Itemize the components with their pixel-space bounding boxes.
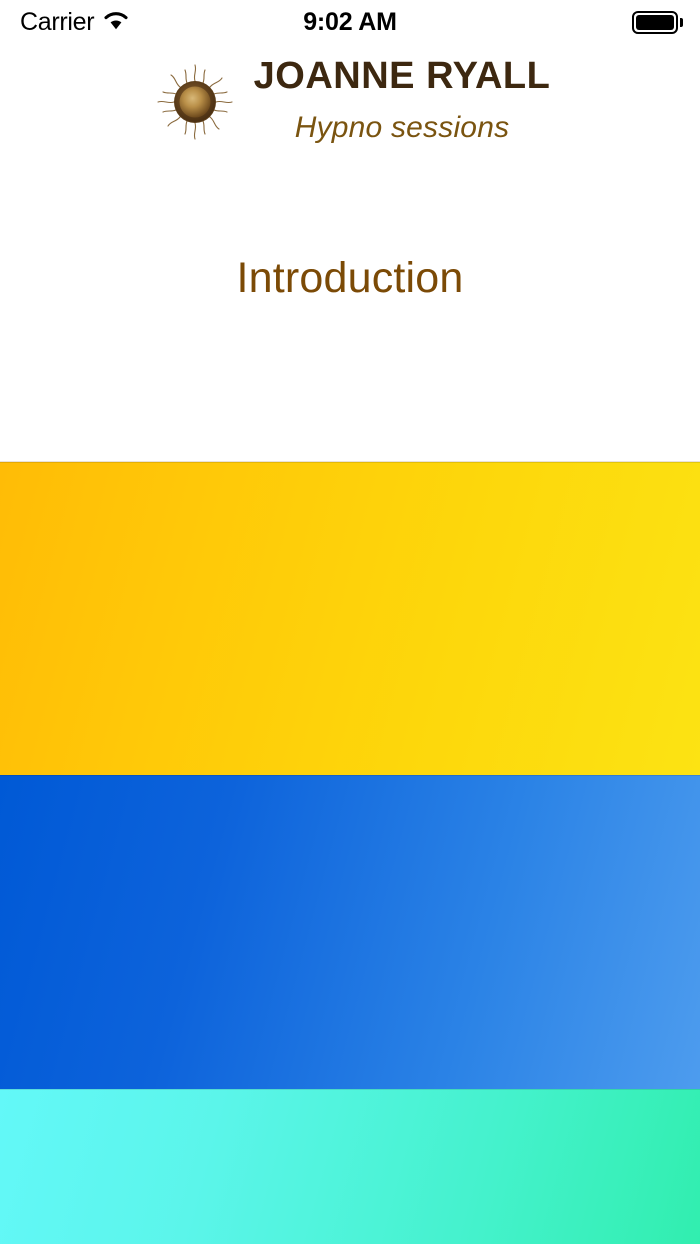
sun-logo-icon — [150, 57, 240, 147]
session-card-motivation[interactable]: Motivation Listens: — [0, 462, 700, 775]
session-card-conquer-stress-anxiety[interactable]: Conquer Stress & Anxiety — [0, 1089, 700, 1244]
battery-icon — [632, 11, 678, 34]
battery-fill — [636, 15, 674, 30]
brand-subtitle: Hypno sessions — [295, 111, 510, 145]
battery-cap — [680, 18, 683, 27]
card-divider — [0, 1089, 700, 1090]
app-header: JOANNE RYALL Hypno sessions — [0, 55, 700, 165]
card-divider — [0, 462, 700, 463]
brand-name: JOANNE RYALL — [254, 55, 551, 99]
card-divider — [0, 775, 700, 776]
session-card-absolute-emotional-healing[interactable]: Absolute Emotional Healing Listens: — [0, 775, 700, 1089]
app-screen: Carrier 9:02 AM — [0, 0, 700, 1244]
status-bar: Carrier 9:02 AM — [0, 0, 700, 44]
session-card-introduction[interactable]: Introduction — [0, 166, 700, 462]
status-bar-right — [632, 11, 683, 34]
brand-title-block: JOANNE RYALL Hypno sessions — [254, 55, 551, 145]
session-title: Introduction — [236, 254, 463, 303]
status-bar-time: 9:02 AM — [0, 8, 700, 37]
